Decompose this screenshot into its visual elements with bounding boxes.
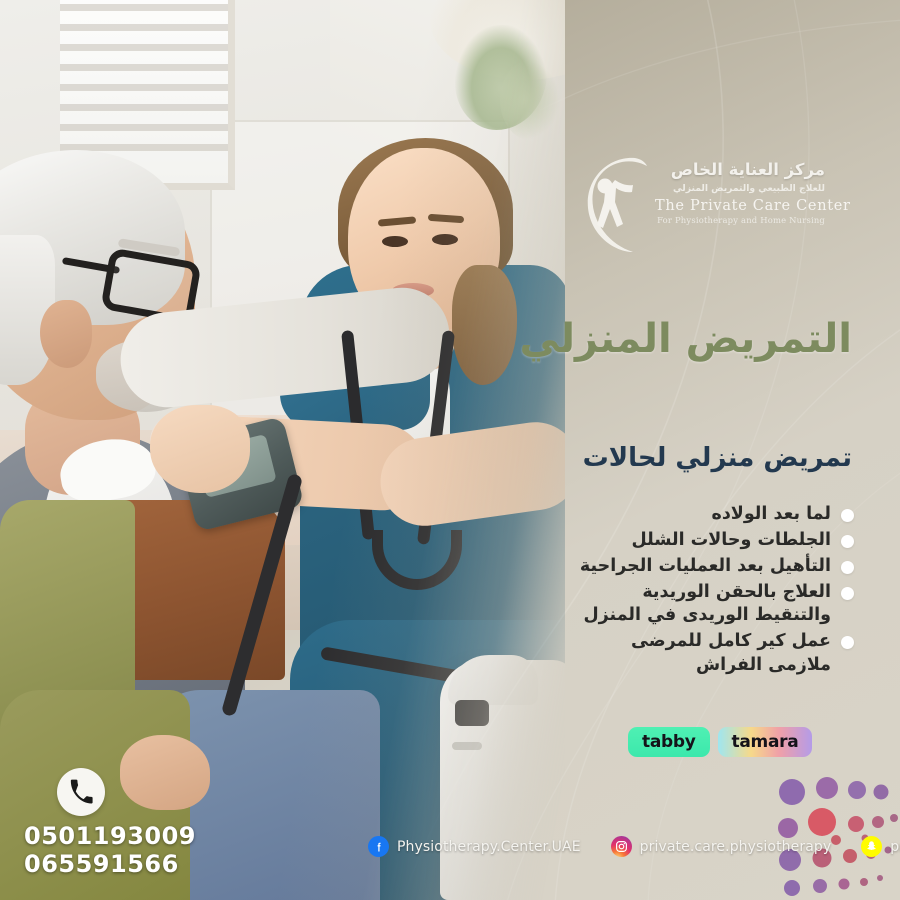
headline: التمريض المنزلي: [432, 316, 852, 362]
phone-numbers: 0501193009 065591566: [24, 822, 196, 879]
brand-logo: مركز العناية الخاص للعلاج الطبيعي والتمر…: [585, 152, 825, 264]
logo-arabic-tagline: للعلاج الطبيعي والتمريض المنزلي: [655, 183, 825, 194]
bullet-dot-icon: [841, 535, 854, 548]
phone-secondary: 065591566: [24, 850, 196, 878]
instagram-handle: private.care.physiotherapy: [640, 839, 832, 855]
phone-primary: 0501193009: [24, 822, 196, 850]
list-item: لما بعد الولاده: [424, 503, 854, 526]
payment-badge-tabby[interactable]: tabby: [628, 727, 710, 757]
bullet-dot-icon: [841, 509, 854, 522]
service-label: الجلطات وحالات الشلل: [631, 529, 831, 552]
logo-english-tagline: For Physiotherapy and Home Nursing: [655, 215, 825, 225]
services-list: لما بعد الولاده الجلطات وحالات الشلل الت…: [424, 503, 854, 680]
service-label: لما بعد الولاده: [711, 503, 831, 526]
phone-icon: [57, 768, 105, 816]
facebook-icon: [368, 836, 389, 857]
logo-english-name: The Private Care Center: [655, 198, 825, 214]
instagram-icon: [611, 836, 632, 857]
snapchat-handle: private.care: [890, 839, 900, 855]
service-label: التأهيل بعد العمليات الجراحية: [580, 555, 831, 578]
logo-arabic-name: مركز العناية الخاص: [655, 160, 825, 180]
list-item: عمل كير كامل للمرضى ملازمى الفراش: [424, 630, 854, 676]
phone-handset-icon: [68, 779, 94, 805]
bullet-dot-icon: [841, 561, 854, 574]
bullet-dot-icon: [841, 636, 854, 649]
facebook-handle: Physiotherapy.Center.UAE: [397, 839, 581, 855]
list-item: العلاج بالحقن الوريدية والتنقيط الوريدى …: [424, 581, 854, 627]
logo-mark-icon: [585, 152, 657, 262]
social-snapchat[interactable]: private.care: [861, 836, 900, 857]
subheadline: تمريض منزلي لحالات: [432, 443, 852, 473]
bullet-dot-icon: [841, 587, 854, 600]
service-label: عمل كير كامل للمرضى ملازمى الفراش: [569, 630, 831, 676]
service-label: العلاج بالحقن الوريدية والتنقيط الوريدى …: [569, 581, 831, 627]
halftone-dots-decoration: [770, 770, 900, 900]
payment-badge-tamara[interactable]: tamara: [718, 727, 813, 757]
social-instagram[interactable]: private.care.physiotherapy: [611, 836, 832, 857]
list-item: الجلطات وحالات الشلل: [424, 529, 854, 552]
payment-methods: tabby tamara: [628, 727, 812, 757]
poster-canvas: مركز العناية الخاص للعلاج الطبيعي والتمر…: [0, 0, 900, 900]
list-item: التأهيل بعد العمليات الجراحية: [424, 555, 854, 578]
snapchat-ghost-icon: [861, 836, 882, 857]
social-facebook[interactable]: Physiotherapy.Center.UAE: [368, 836, 581, 857]
social-strip: Physiotherapy.Center.UAE private.care.ph…: [368, 836, 900, 857]
